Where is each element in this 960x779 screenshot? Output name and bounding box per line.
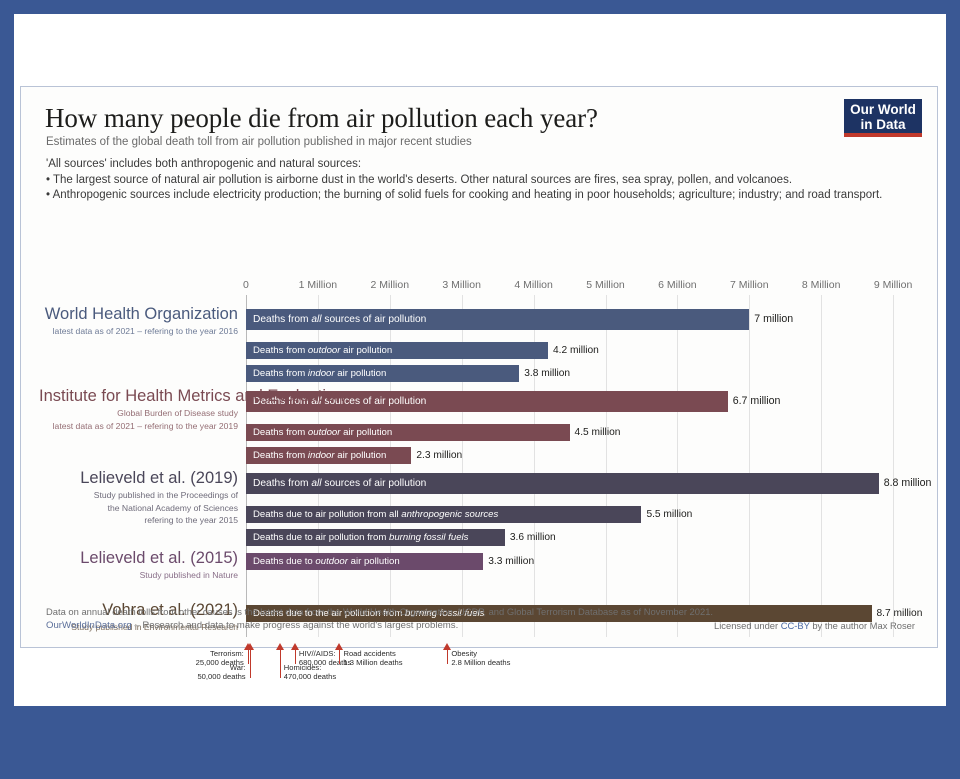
bar-value-label: 5.5 million: [646, 509, 692, 520]
gridline: [821, 295, 822, 637]
gridline: [749, 295, 750, 637]
footer-license: Licensed under CC-BY by the author Max R…: [714, 620, 915, 631]
license-post: by the author Max Roser: [810, 620, 915, 631]
study-note: Global Burden of Disease study: [39, 408, 238, 419]
study-label-group: Lelieveld et al. (2019)Study published i…: [39, 469, 238, 526]
annotation-arrow-icon: [276, 643, 284, 650]
footer-attribution: OurWorldInData.org – Research and data t…: [46, 620, 458, 631]
study-note: Study published in Nature: [39, 570, 238, 581]
bar-label: Deaths from indoor air pollution: [253, 450, 386, 461]
bar-label-emphasis: anthropogenic sources: [401, 509, 498, 520]
bar-value-label: 3.3 million: [488, 556, 534, 567]
bar-label: Deaths from all sources of air pollution: [253, 478, 426, 489]
bar[interactable]: Deaths from outdoor air pollution: [246, 342, 548, 359]
footer-sources: Data on annual death tolls from other ca…: [46, 606, 713, 617]
bar-label: Deaths due to air pollution from all ant…: [253, 509, 498, 520]
bar[interactable]: Deaths from all sources of air pollution: [246, 309, 749, 330]
bar-value-label: 4.5 million: [575, 427, 621, 438]
bar-label-emphasis: indoor: [308, 450, 335, 461]
gridline: [893, 295, 894, 637]
x-axis-tick-label: 4 Million: [514, 279, 553, 291]
x-axis-tick-label: 5 Million: [586, 279, 625, 291]
page-title: How many people die from air pollution e…: [45, 103, 598, 134]
annotation-arrow-icon: [443, 643, 451, 650]
annotation-value: 470,000 deaths: [284, 672, 336, 681]
study-name: Lelieveld et al. (2015): [39, 549, 238, 568]
annotation-leader-line: [339, 650, 340, 664]
study-name: World Health Organization: [39, 305, 238, 324]
annotation-cause: Terrorism:: [21, 649, 244, 658]
x-axis-tick-label: 6 Million: [658, 279, 697, 291]
study-name: Institute for Health Metrics and Evaluat…: [39, 387, 238, 406]
annotation-value: 1.3 Million deaths: [343, 658, 402, 667]
x-axis-tick-label: 7 Million: [730, 279, 769, 291]
bar-value-label: 3.8 million: [524, 368, 570, 379]
footer-tagline: – Research and data to make progress aga…: [132, 620, 459, 631]
annotation-value: 50,000 deaths: [21, 672, 246, 681]
bar-value-label: 7 million: [754, 313, 793, 325]
bar[interactable]: Deaths due to air pollution from burning…: [246, 529, 505, 546]
x-axis-tick-label: 3 Million: [442, 279, 481, 291]
annotation-label: Road accidents1.3 Million deaths: [343, 649, 402, 667]
bar-label-emphasis: burning fossil fuels: [389, 532, 468, 543]
bar-label: Deaths from outdoor air pollution: [253, 345, 392, 356]
slide-canvas: How many people die from air pollution e…: [14, 14, 946, 706]
gridline: [606, 295, 607, 637]
bar-label-emphasis: outdoor: [308, 427, 341, 438]
notes-block: 'All sources' includes both anthropogeni…: [46, 157, 926, 204]
our-world-in-data-logo[interactable]: Our World in Data: [844, 99, 922, 137]
bar-label: Deaths from outdoor air pollution: [253, 427, 392, 438]
bar-label: Deaths due to air pollution from burning…: [253, 532, 468, 543]
owid-link[interactable]: OurWorldInData.org: [46, 620, 132, 631]
bar-value-label: 2.3 million: [416, 450, 462, 461]
annotation-label: Obesity2.8 Million deaths: [451, 649, 510, 667]
annotation-leader-line: [447, 650, 448, 664]
annotation-value: 2.8 Million deaths: [451, 658, 510, 667]
annotation-cause: Road accidents: [343, 649, 402, 658]
bar-label: Deaths due to outdoor air pollution: [253, 556, 400, 567]
logo-line-1: Our World: [844, 102, 922, 117]
study-note: Study published in the Proceedings of: [39, 490, 238, 501]
bar[interactable]: Deaths from outdoor air pollution: [246, 424, 570, 441]
study-note: latest data as of 2021 – refering to the…: [39, 326, 238, 337]
annotation-cause: War:: [21, 663, 246, 672]
note-bullet-natural: • The largest source of natural air poll…: [46, 173, 926, 189]
logo-line-2: in Data: [844, 117, 922, 132]
bar-value-label: 4.2 million: [553, 345, 599, 356]
bar[interactable]: Deaths from all sources of air pollution: [246, 473, 879, 494]
gridline: [677, 295, 678, 637]
annotation-arrow-icon: [246, 643, 254, 650]
bar[interactable]: Deaths from indoor air pollution: [246, 447, 411, 464]
note-intro: 'All sources' includes both anthropogeni…: [46, 157, 926, 173]
bar-label-emphasis: all: [311, 314, 321, 325]
annotation-leader-line: [295, 650, 296, 664]
bar-value-label: 6.7 million: [733, 395, 781, 407]
annotation-leader-line: [280, 650, 281, 678]
x-axis-tick-label: 0: [243, 279, 249, 291]
annotation-arrow-icon: [291, 643, 299, 650]
x-axis-tick-label: 8 Million: [802, 279, 841, 291]
annotation-cause: Obesity: [451, 649, 510, 658]
bar-label: Deaths from indoor air pollution: [253, 368, 386, 379]
cc-by-link[interactable]: CC-BY: [781, 620, 810, 631]
bar-label-emphasis: indoor: [308, 368, 335, 379]
note-bullet-anthropogenic: • Anthropogenic sources include electric…: [46, 188, 926, 204]
bar-value-label: 8.8 million: [884, 477, 932, 489]
study-name: Lelieveld et al. (2019): [39, 469, 238, 488]
study-note: the National Academy of Sciences: [39, 503, 238, 514]
bar-value-label: 3.6 million: [510, 532, 556, 543]
x-axis-tick-label: 9 Million: [874, 279, 913, 291]
x-axis-tick-label: 2 Million: [371, 279, 410, 291]
chart-panel: How many people die from air pollution e…: [20, 86, 938, 648]
annotation-leader-line: [250, 650, 251, 678]
annotation-arrow-icon: [335, 643, 343, 650]
study-label-group: Institute for Health Metrics and Evaluat…: [39, 387, 238, 431]
bar[interactable]: Deaths from indoor air pollution: [246, 365, 519, 382]
x-axis-tick-label: 1 Million: [299, 279, 338, 291]
bar-label-emphasis: all: [311, 478, 321, 489]
study-label-group: Lelieveld et al. (2015)Study published i…: [39, 549, 238, 581]
page-subtitle: Estimates of the global death toll from …: [46, 136, 472, 148]
bar-label-emphasis: outdoor: [308, 345, 341, 356]
annotation-label: War:50,000 deaths: [21, 663, 246, 681]
study-label-group: World Health Organizationlatest data as …: [39, 305, 238, 337]
bar-label: Deaths from all sources of air pollution: [253, 314, 426, 325]
bar-label-emphasis: outdoor: [315, 556, 348, 567]
study-note: refering to the year 2015: [39, 515, 238, 526]
bar[interactable]: Deaths due to air pollution from all ant…: [246, 506, 641, 523]
bar[interactable]: Deaths due to outdoor air pollution: [246, 553, 483, 570]
license-pre: Licensed under: [714, 620, 781, 631]
study-note: latest data as of 2021 – refering to the…: [39, 421, 238, 432]
bar-value-label: 8.7 million: [877, 608, 923, 619]
